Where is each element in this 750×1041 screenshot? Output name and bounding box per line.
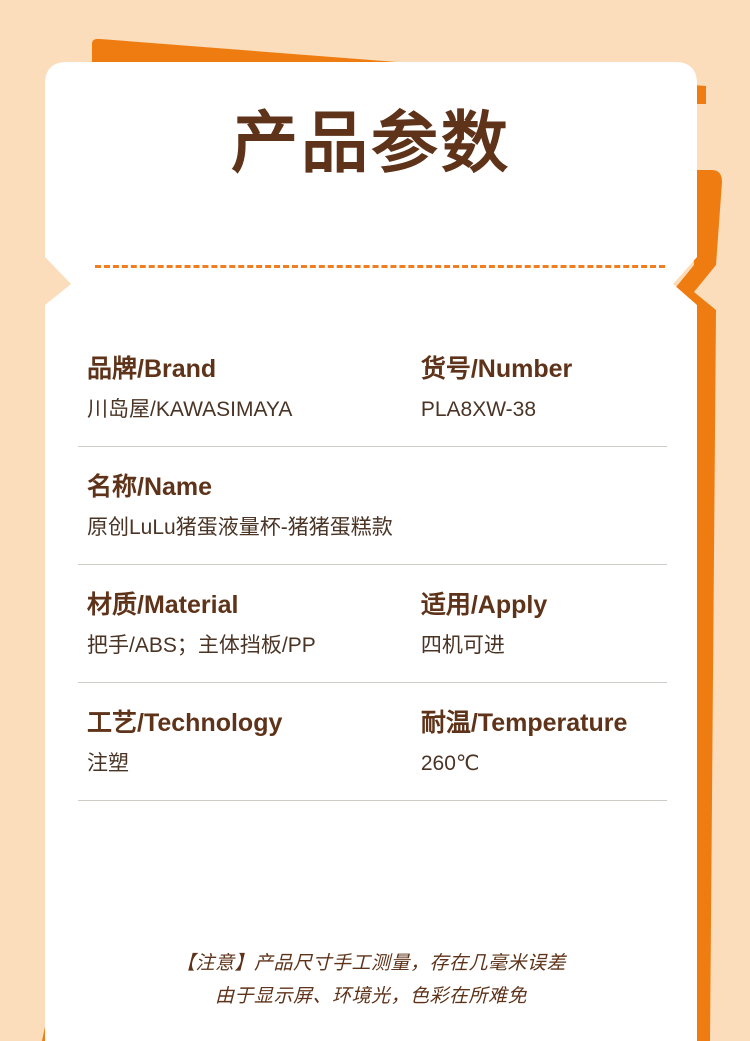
disclaimer-line-1: 【注意】产品尺寸手工测量，存在几毫米误差 (45, 947, 697, 980)
spec-value: 四机可进 (421, 635, 665, 656)
spec-label: 货号/Number (421, 357, 665, 382)
disclaimer-line-2: 由于显示屏、环境光，色彩在所难免 (45, 980, 697, 1013)
spec-cell-apply: 适用/Apply 四机可进 (416, 593, 665, 656)
spec-cell-number: 货号/Number PLA8XW-38 (416, 357, 665, 420)
spec-cell-name: 名称/Name 原创LuLu猪蛋液量杯-猪猪蛋糕款 (87, 475, 665, 538)
spec-cell-technology: 工艺/Technology 注塑 (87, 711, 416, 774)
product-spec-card-page: 产品参数 品牌/Brand 川岛屋/KAWASIMAYA 货号/Number P… (0, 0, 750, 1041)
disclaimer-note: 【注意】产品尺寸手工测量，存在几毫米误差 由于显示屏、环境光，色彩在所难免 (45, 947, 697, 1013)
spec-card: 产品参数 品牌/Brand 川岛屋/KAWASIMAYA 货号/Number P… (45, 62, 697, 1041)
spec-table: 品牌/Brand 川岛屋/KAWASIMAYA 货号/Number PLA8XW… (45, 357, 697, 801)
spec-value: 注塑 (87, 753, 416, 774)
table-row: 材质/Material 把手/ABS；主体挡板/PP 适用/Apply 四机可进 (45, 565, 697, 682)
table-row: 工艺/Technology 注塑 耐温/Temperature 260℃ (45, 683, 697, 800)
spec-label: 耐温/Temperature (421, 711, 665, 736)
spec-cell-material: 材质/Material 把手/ABS；主体挡板/PP (87, 593, 416, 656)
spec-label: 名称/Name (87, 475, 665, 500)
spec-value: 260℃ (421, 753, 665, 774)
row-divider (78, 800, 667, 801)
spec-value: PLA8XW-38 (421, 399, 665, 420)
spec-value: 原创LuLu猪蛋液量杯-猪猪蛋糕款 (87, 517, 665, 538)
table-row: 品牌/Brand 川岛屋/KAWASIMAYA 货号/Number PLA8XW… (45, 357, 697, 446)
spec-label: 品牌/Brand (87, 357, 416, 382)
spec-cell-brand: 品牌/Brand 川岛屋/KAWASIMAYA (87, 357, 416, 420)
spec-cell-temperature: 耐温/Temperature 260℃ (416, 711, 665, 774)
table-row: 名称/Name 原创LuLu猪蛋液量杯-猪猪蛋糕款 (45, 447, 697, 564)
dashed-divider (95, 265, 665, 268)
page-title: 产品参数 (45, 110, 697, 177)
spec-label: 适用/Apply (421, 593, 665, 618)
spec-label: 工艺/Technology (87, 711, 416, 736)
spec-value: 把手/ABS；主体挡板/PP (87, 635, 416, 656)
spec-label: 材质/Material (87, 593, 416, 618)
spec-value: 川岛屋/KAWASIMAYA (87, 399, 416, 420)
